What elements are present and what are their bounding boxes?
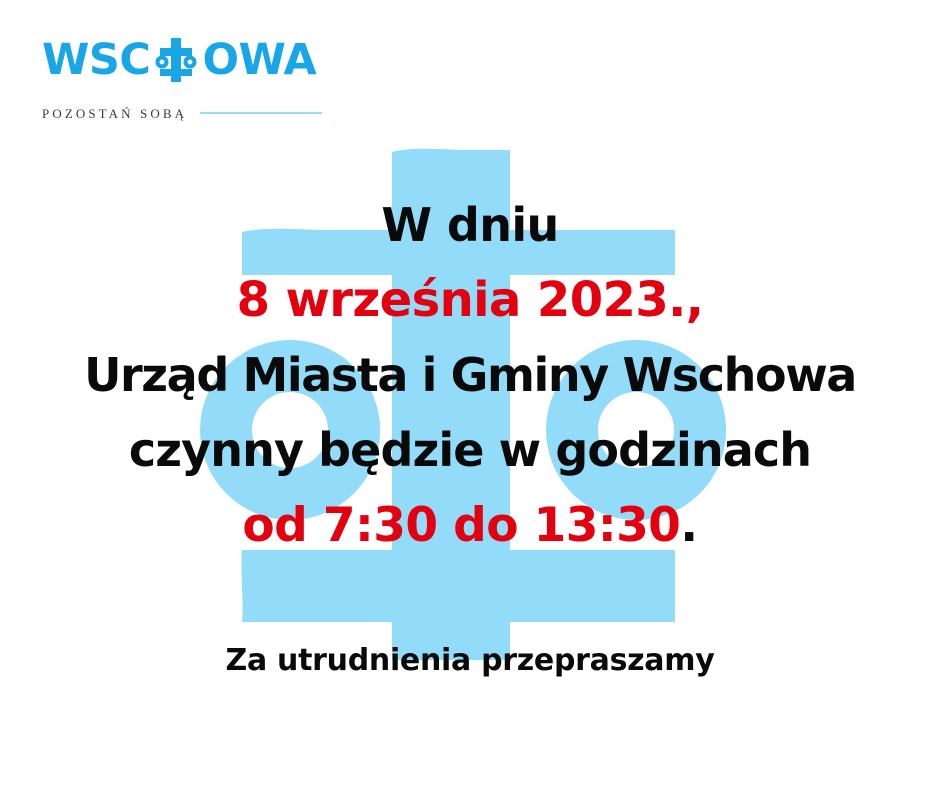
- logo-word-right: OWA: [202, 39, 316, 82]
- message-line-1: W dniu: [0, 188, 940, 263]
- announcement-message: W dniu 8 września 2023., Urząd Miasta i …: [0, 188, 940, 563]
- brand-logo: WSC OWA POZOSTAŃ SOBĄ: [42, 36, 442, 120]
- message-line-2-date: 8 września 2023.,: [0, 263, 940, 338]
- message-hours-range: od 7:30 do 13:30: [242, 498, 680, 553]
- logo-wordmark: WSC OWA: [42, 36, 442, 84]
- logo-rule-divider: [200, 112, 322, 114]
- announcement-poster: WSC OWA POZOSTAŃ SOBĄ W dniu 8 września: [0, 0, 940, 788]
- logo-tagline: POZOSTAŃ SOBĄ: [42, 107, 187, 120]
- message-line-3-office: Urząd Miasta i Gminy Wschowa: [0, 338, 940, 413]
- message-line-4-hours-label: czynny będzie w godzinach: [0, 413, 940, 488]
- logo-tagline-row: POZOSTAŃ SOBĄ: [42, 106, 442, 120]
- message-line-5-hours: od 7:30 do 13:30.: [0, 488, 940, 563]
- double-barred-cross-icon: [151, 36, 201, 84]
- apology-footnote: Za utrudnienia przepraszamy: [0, 640, 940, 682]
- message-hours-period: .: [680, 498, 697, 553]
- logo-word-left: WSC: [42, 39, 150, 82]
